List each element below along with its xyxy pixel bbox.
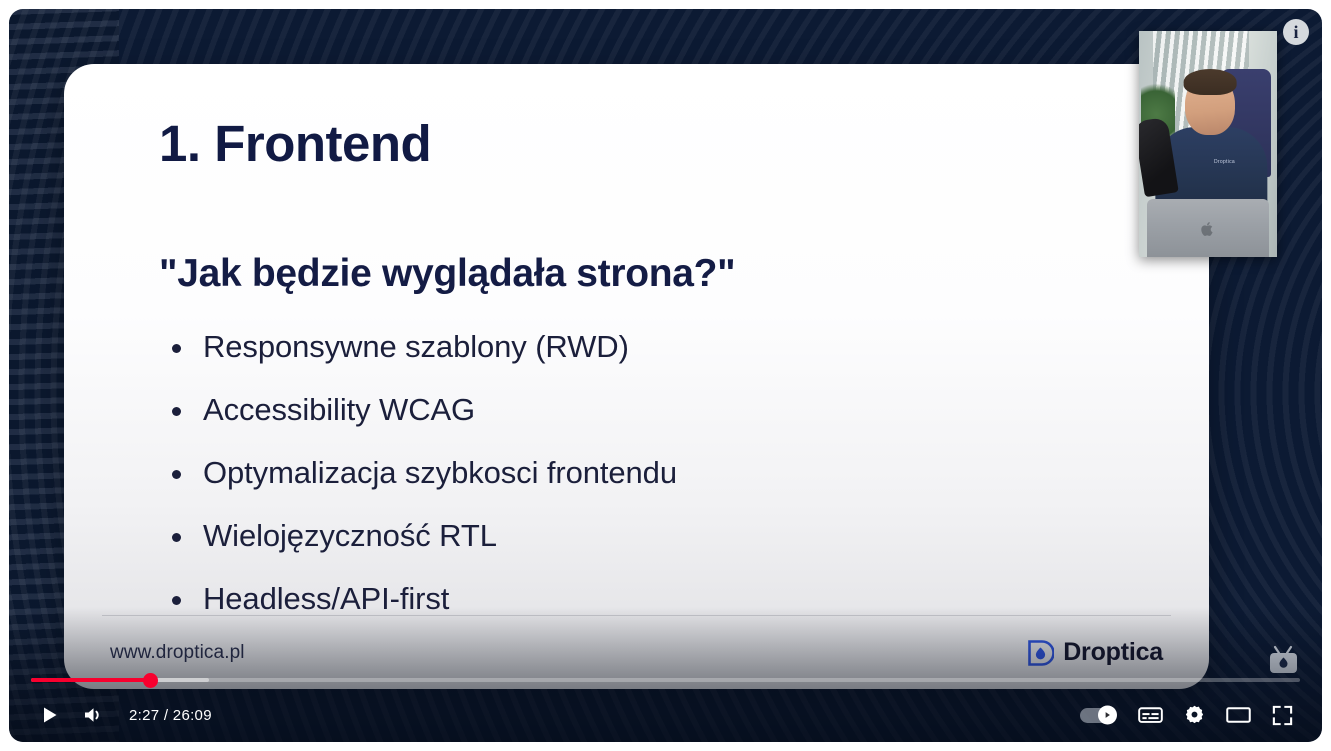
video-progress-bar[interactable] — [31, 674, 1300, 686]
bullet-dot-icon — [172, 407, 181, 416]
bullet-dot-icon — [172, 344, 181, 353]
bullet-dot-icon — [172, 470, 181, 479]
bullet-dot-icon — [172, 533, 181, 542]
bullet-text: Wielojęzyczność RTL — [203, 518, 497, 553]
info-icon-glyph: i — [1293, 22, 1298, 43]
bullet-text: Accessibility WCAG — [203, 392, 475, 427]
presenter-webcam-overlay: Droptica — [1139, 31, 1277, 257]
info-icon[interactable]: i — [1283, 19, 1309, 45]
list-item: Optymalizacja szybkosci frontendu — [159, 455, 1151, 491]
list-item: Responsywne szablony (RWD) — [159, 329, 1151, 365]
list-item: Accessibility WCAG — [159, 392, 1151, 428]
progress-played — [31, 678, 150, 682]
slide-content: 1. Frontend "Jak będzie wyglądała strona… — [64, 64, 1209, 689]
time-display: 2:27 / 26:09 — [129, 707, 212, 724]
bullet-text: Responsywne szablony (RWD) — [203, 329, 629, 364]
autoplay-toggle-track — [1080, 708, 1114, 723]
presentation-slide: 1. Frontend "Jak będzie wyglądała strona… — [64, 64, 1209, 689]
bullet-text: Optymalizacja szybkosci frontendu — [203, 455, 677, 490]
footer-website-url: www.droptica.pl — [110, 642, 245, 664]
webcam-laptop — [1147, 199, 1269, 257]
slide-title: 1. Frontend — [159, 116, 1151, 172]
screenshot-root: 1. Frontend "Jak będzie wyglądała strona… — [0, 0, 1331, 751]
controls-right-group — [1080, 693, 1304, 737]
fullscreen-button[interactable] — [1260, 693, 1304, 737]
progress-scrubber-handle[interactable] — [143, 673, 158, 688]
play-button[interactable] — [27, 693, 71, 737]
droptica-logo-icon — [1026, 639, 1054, 667]
subtitles-button[interactable] — [1128, 693, 1172, 737]
bullet-dot-icon — [172, 596, 181, 605]
droptica-logo-text: Droptica — [1063, 638, 1163, 667]
settings-button[interactable] — [1172, 693, 1216, 737]
webcam-scene: Droptica — [1139, 31, 1277, 257]
video-player[interactable]: 1. Frontend "Jak będzie wyglądała strona… — [9, 9, 1322, 742]
controls-left-group: 2:27 / 26:09 — [27, 693, 212, 737]
bullet-text: Headless/API-first — [203, 581, 449, 616]
droptica-logo: Droptica — [1026, 638, 1163, 667]
list-item: Headless/API-first — [159, 581, 1151, 617]
autoplay-toggle[interactable] — [1080, 704, 1124, 726]
apple-logo-icon — [1201, 221, 1215, 237]
video-controls-bar: 2:27 / 26:09 — [9, 688, 1322, 742]
slide-bullet-list: Responsywne szablony (RWD) Accessibility… — [159, 329, 1151, 617]
progress-track[interactable] — [31, 678, 1300, 682]
volume-button[interactable] — [71, 693, 115, 737]
slide-subtitle: "Jak będzie wyglądała strona?" — [159, 252, 1151, 297]
autoplay-toggle-knob — [1098, 706, 1117, 725]
webcam-presenter-hair — [1184, 69, 1237, 95]
miniplayer-button[interactable] — [1216, 693, 1260, 737]
list-item: Wielojęzyczność RTL — [159, 518, 1151, 554]
webcam-shirt-logo: Droptica — [1214, 159, 1235, 165]
